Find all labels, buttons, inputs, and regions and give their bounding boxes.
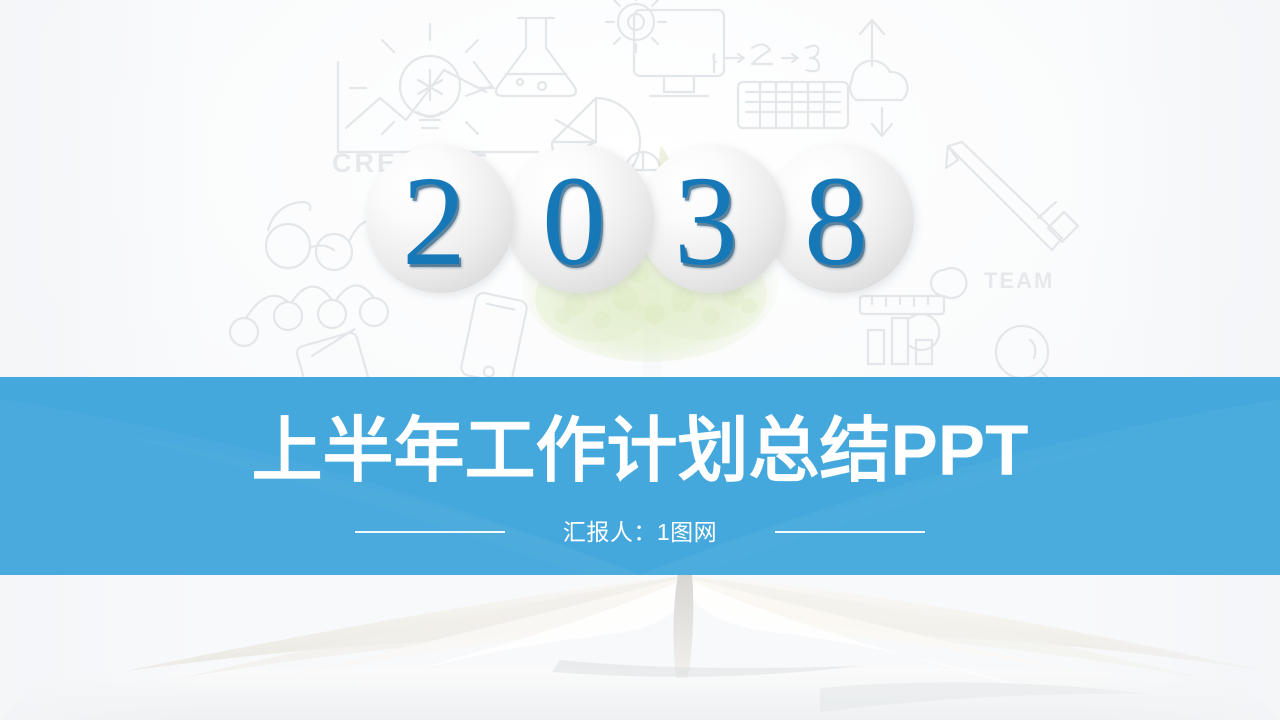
year-badge-group: 2 0 3 8	[366, 145, 914, 300]
arrow-up-doodle-icon	[860, 20, 884, 66]
presentation-slide: CREATIVE TEAM	[0, 0, 1280, 720]
subtitle-row: 汇报人：1图网	[0, 517, 1280, 547]
flask-doodle-icon	[496, 18, 576, 96]
subtitle-rule-right	[775, 531, 925, 533]
monitor-doodle-icon	[634, 10, 724, 96]
lightbulb-doodle-icon	[350, 24, 494, 134]
number-eight-doodle-icon	[931, 268, 966, 298]
letter-c-doodle-icon	[910, 314, 939, 350]
year-digit-4: 8	[804, 151, 868, 291]
subtitle-rule-left	[355, 531, 505, 533]
steps-arrow-doodle-icon	[713, 44, 819, 72]
year-digit-1: 2	[402, 151, 466, 291]
year-digit-2: 0	[542, 151, 606, 291]
steps-timeline-doodle-icon	[230, 285, 388, 346]
gear-doodle-icon	[606, 0, 666, 52]
presenter-subtitle: 汇报人：1图网	[563, 517, 717, 547]
bar-chart-doodle-icon	[868, 318, 932, 364]
year-digits: 2 0 3 8	[366, 145, 914, 300]
slide-title: 上半年工作计划总结PPT	[0, 413, 1280, 491]
cloud-download-doodle-icon	[850, 61, 907, 136]
open-book-image	[0, 560, 1280, 720]
glasses-doodle-icon	[266, 202, 381, 270]
doodle-label-team: TEAM	[984, 268, 1054, 293]
title-banner: 上半年工作计划总结PPT 汇报人：1图网	[0, 377, 1280, 575]
year-digit-3: 3	[674, 151, 738, 291]
pencil-doodle-icon	[946, 142, 1078, 250]
